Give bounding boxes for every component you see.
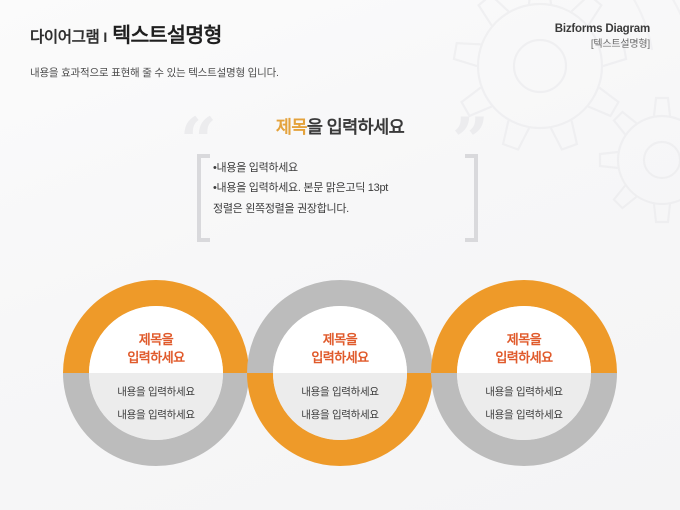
brand-subtitle: [텍스트설명형] — [555, 38, 650, 52]
brand-block: Bizforms Diagram [텍스트설명형] — [555, 22, 650, 51]
circle-1-title-line1: 제목을 — [139, 332, 174, 347]
circle-3-title-line2: 입력하세요 — [495, 350, 553, 365]
brand-name: Bizforms Diagram — [555, 22, 650, 38]
quote-line: •내용을 입력하세요 — [213, 158, 463, 178]
circle-1-body-line2: 내용을 입력하세요 — [117, 408, 195, 421]
chain-circle-1[interactable]: 제목을 입력하세요 내용을 입력하세요 내용을 입력하세요 — [76, 293, 236, 453]
page-title-category: 다이어그램 — [30, 25, 99, 47]
page-subtitle: 내용을 효과적으로 표현해 줄 수 있는 텍스트설명형 입니다. — [30, 65, 279, 80]
circle-2-body-line1: 내용을 입력하세요 — [301, 385, 379, 398]
circle-2-title-line1: 제목을 — [323, 332, 358, 347]
quote-heading-rest: 을 입력하세요 — [307, 117, 404, 137]
quote-line: •내용을 입력하세요. 본문 맑은고딕 13pt — [213, 178, 463, 198]
circle-2-body-line2: 내용을 입력하세요 — [301, 408, 379, 421]
page-title: 다이어그램 I 텍스트설명형 — [30, 18, 279, 48]
circle-2-title-line2: 입력하세요 — [311, 350, 369, 365]
page-title-main: 텍스트설명형 — [112, 18, 222, 48]
quote-line: 정렬은 왼쪽정렬을 권장합니다. — [213, 199, 463, 219]
quote-heading: 제목을 입력하세요 — [0, 114, 680, 139]
quote-body: •내용을 입력하세요 •내용을 입력하세요. 본문 맑은고딕 13pt 정렬은 … — [205, 154, 470, 242]
circle-1-title-line2: 입력하세요 — [127, 350, 185, 365]
quote-section: “ ” 제목을 입력하세요 •내용을 입력하세요 •내용을 입력하세요. 본문 … — [0, 104, 680, 254]
slide-canvas: 다이어그램 I 텍스트설명형 내용을 효과적으로 표현해 줄 수 있는 텍스트설… — [0, 0, 680, 510]
circle-1-body-line1: 내용을 입력하세요 — [117, 385, 195, 398]
circle-3-body-line1: 내용을 입력하세요 — [485, 385, 563, 398]
chain-circle-2[interactable]: 제목을 입력하세요 내용을 입력하세요 내용을 입력하세요 — [260, 293, 420, 453]
circle-3-body-line2: 내용을 입력하세요 — [485, 408, 563, 421]
circle-chain: 제목을 입력하세요 내용을 입력하세요 내용을 입력하세요 제목을 입력하세요 … — [0, 272, 680, 477]
page-title-separator: I — [99, 29, 112, 45]
quote-heading-highlight: 제목 — [276, 117, 307, 137]
chain-circle-3[interactable]: 제목을 입력하세요 내용을 입력하세요 내용을 입력하세요 — [444, 293, 604, 453]
bracket-right-icon — [465, 154, 478, 242]
circle-3-title-line1: 제목을 — [507, 332, 542, 347]
quote-text-lines: •내용을 입력하세요 •내용을 입력하세요. 본문 맑은고딕 13pt 정렬은 … — [213, 158, 463, 219]
bracket-left-icon — [197, 154, 210, 242]
slide-header: 다이어그램 I 텍스트설명형 내용을 효과적으로 표현해 줄 수 있는 텍스트설… — [30, 18, 279, 80]
